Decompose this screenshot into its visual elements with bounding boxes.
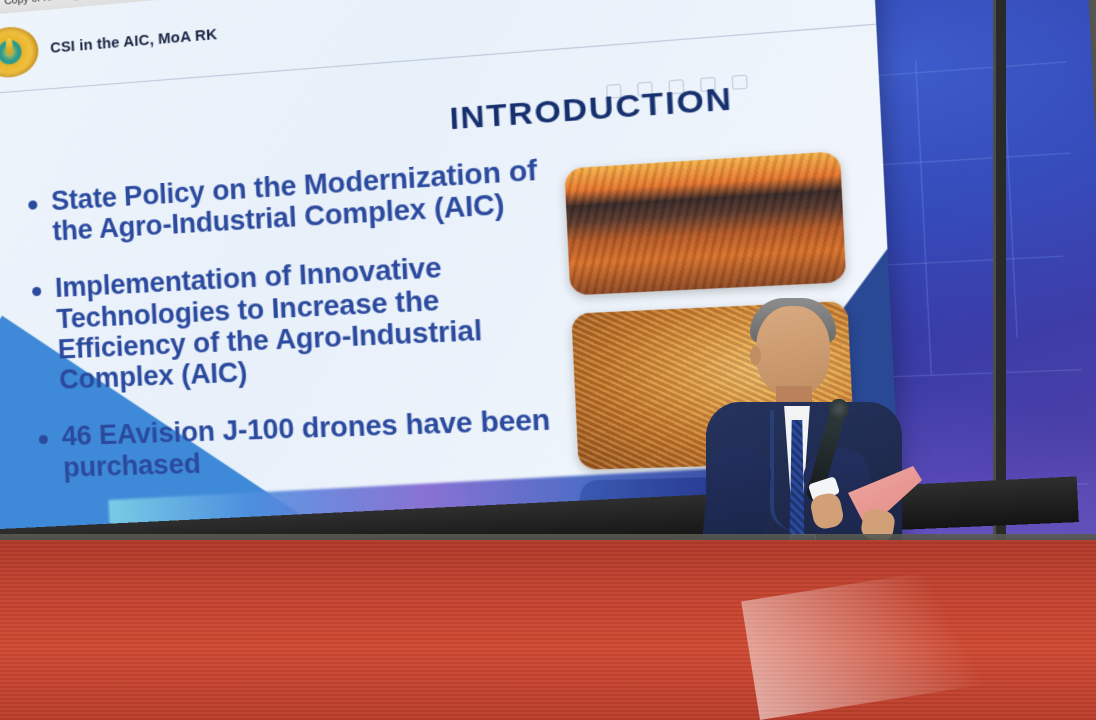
list-item: Implementation of Innovative Technologie… [31, 245, 591, 397]
kazakhstan-state-emblem-icon [0, 25, 39, 80]
presenter-head [756, 306, 830, 396]
photo-sunset-farmland [564, 151, 846, 295]
list-item: 46 EAvision J-100 drones have been purch… [38, 403, 596, 483]
screenshot-stage: 10:41 周五 ▾ Copy of KHP-2_副本.pdf 页码 2/5 C… [0, 0, 1096, 720]
bullet-dot-icon [28, 200, 37, 210]
bullet-text: 46 EAvision J-100 drones have been purch… [61, 403, 596, 483]
slide-title: INTRODUCTION [449, 81, 734, 138]
bullet-dot-icon [39, 435, 48, 444]
slide-bullet-list: State Policy on the Modernization of the… [28, 151, 598, 509]
slide-subtitle: CSI in the AIC, MoA RK [50, 27, 218, 57]
toolbar-tool-icon[interactable] [732, 74, 748, 89]
bullet-dot-icon [32, 287, 41, 297]
list-item: State Policy on the Modernization of the… [28, 151, 584, 248]
bullet-text: State Policy on the Modernization of the… [50, 151, 583, 247]
bullet-text: Implementation of Innovative Technologie… [54, 245, 591, 396]
presenter-ear [750, 346, 761, 365]
